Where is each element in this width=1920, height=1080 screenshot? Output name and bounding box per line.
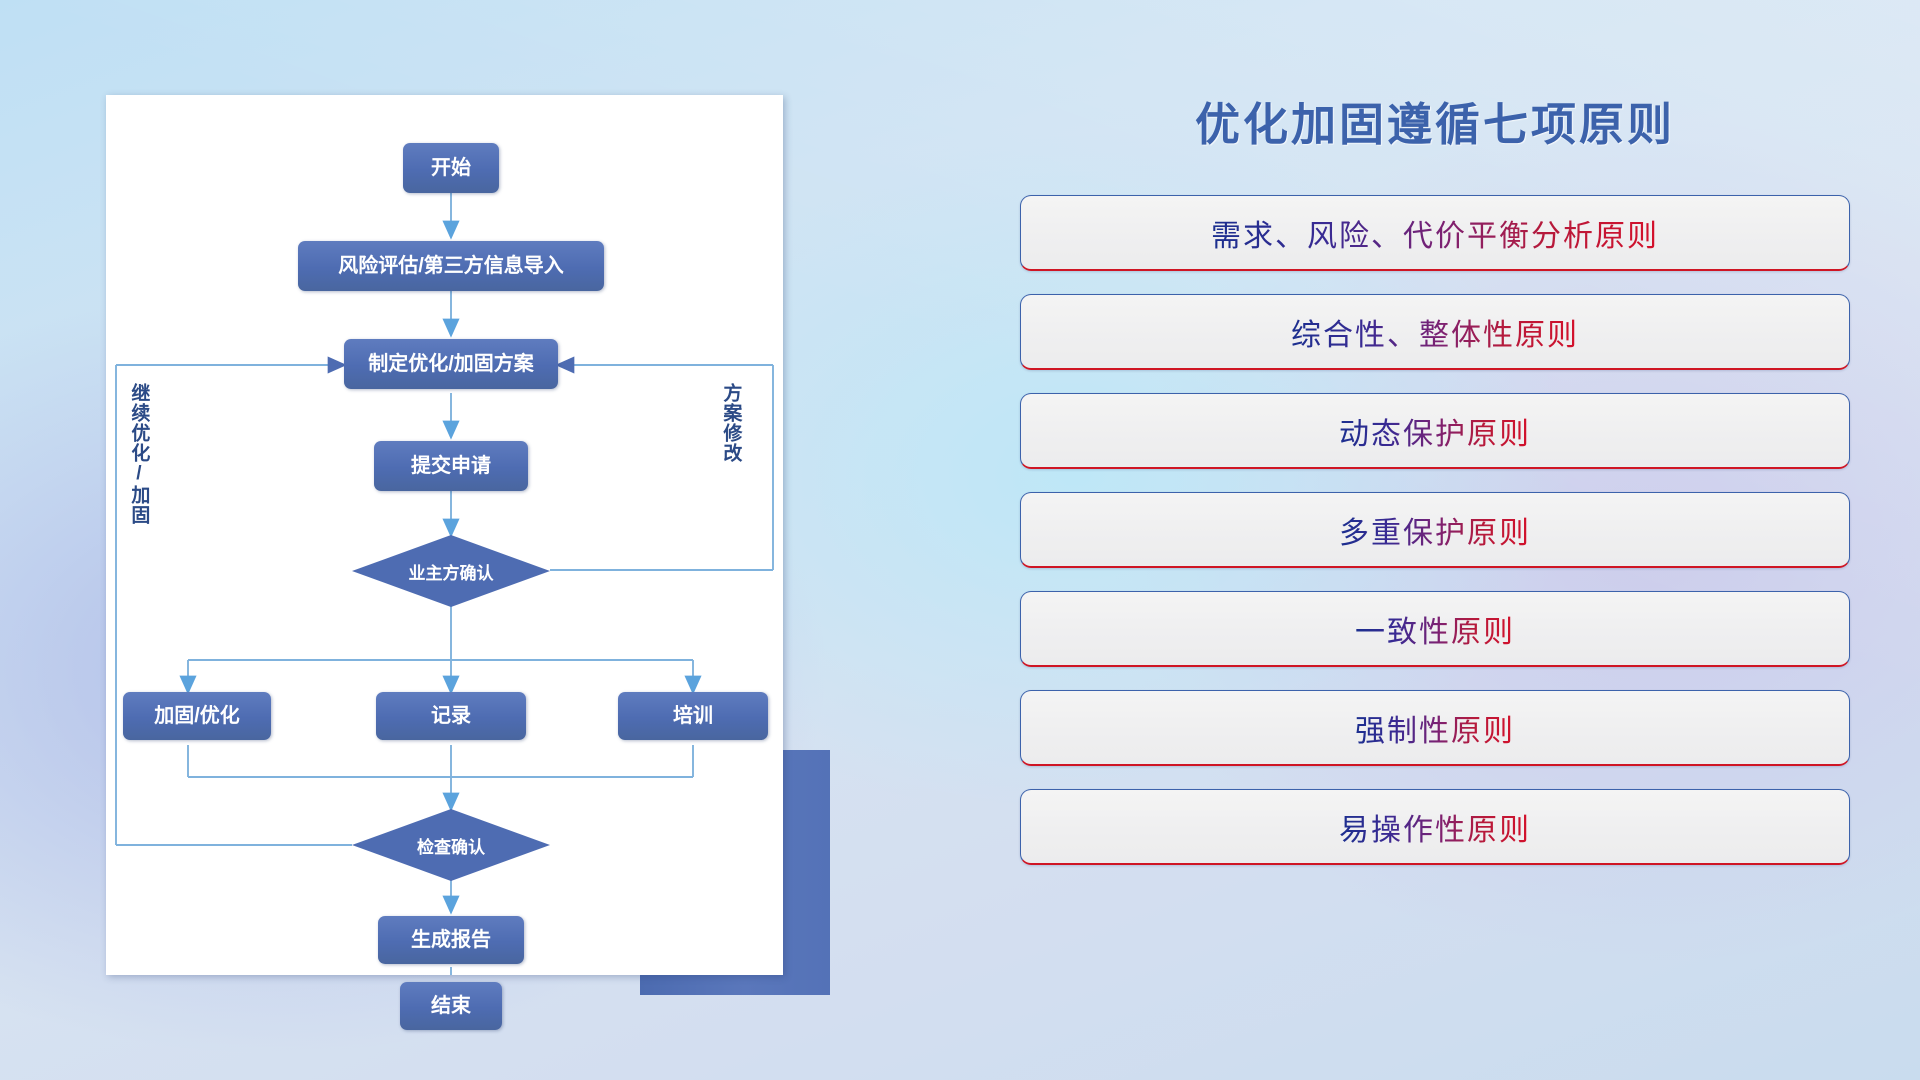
principle-item[interactable]: 一致性原则 — [1020, 591, 1850, 667]
principle-label: 强制性原则 — [1355, 706, 1515, 750]
flow-node-label: 加固/优化 — [154, 705, 240, 727]
flow-node-label: 生成报告 — [411, 929, 491, 951]
flow-node-owner-confirmation[interactable]: 业主方确认 — [352, 535, 550, 607]
flow-node-label: 记录 — [431, 705, 471, 727]
principles-list: 需求、风险、代价平衡分析原则 综合性、整体性原则 动态保护原则 多重保护原则 一… — [1020, 195, 1850, 865]
flow-node-inspection-confirmation[interactable]: 检查确认 — [352, 809, 550, 881]
flow-node-training[interactable]: 培训 — [618, 692, 768, 740]
principle-item[interactable]: 综合性、整体性原则 — [1020, 294, 1850, 370]
flow-node-label: 制定优化/加固方案 — [368, 353, 534, 375]
principles-panel: 优化加固遵循七项原则 需求、风险、代价平衡分析原则 综合性、整体性原则 动态保护… — [1020, 88, 1850, 865]
edge-label-continue-optimize: 继续优化/加固 — [129, 383, 148, 525]
flow-node-label: 检查确认 — [417, 833, 485, 858]
principle-item[interactable]: 强制性原则 — [1020, 690, 1850, 766]
flow-node-submit-application[interactable]: 提交申请 — [374, 441, 528, 491]
flow-node-label: 开始 — [431, 157, 471, 179]
principle-label: 多重保护原则 — [1339, 508, 1531, 552]
edge-label-plan-revision: 方案修改 — [721, 383, 740, 463]
flowchart-card: 开始 风险评估/第三方信息导入 制定优化/加固方案 提交申请 业主方确认 加固/… — [106, 95, 783, 975]
principle-label: 综合性、整体性原则 — [1291, 310, 1579, 354]
principle-label: 一致性原则 — [1355, 607, 1515, 651]
principle-label: 需求、风险、代价平衡分析原则 — [1211, 211, 1659, 255]
flow-node-label: 业主方确认 — [409, 559, 494, 584]
flow-node-label: 提交申请 — [411, 455, 491, 477]
flow-node-reinforce-optimize[interactable]: 加固/优化 — [123, 692, 271, 740]
principle-item[interactable]: 需求、风险、代价平衡分析原则 — [1020, 195, 1850, 271]
principle-label: 动态保护原则 — [1339, 409, 1531, 453]
flow-node-plan[interactable]: 制定优化/加固方案 — [344, 339, 558, 389]
flow-node-label: 风险评估/第三方信息导入 — [338, 255, 564, 277]
panel-title: 优化加固遵循七项原则 — [1020, 88, 1850, 153]
flow-node-end[interactable]: 结束 — [400, 982, 502, 1030]
principle-item[interactable]: 动态保护原则 — [1020, 393, 1850, 469]
principle-label: 易操作性原则 — [1339, 805, 1531, 849]
flow-node-record[interactable]: 记录 — [376, 692, 526, 740]
flow-node-label: 培训 — [673, 705, 713, 727]
flow-node-generate-report[interactable]: 生成报告 — [378, 916, 524, 964]
principle-item[interactable]: 易操作性原则 — [1020, 789, 1850, 865]
flow-node-label: 结束 — [431, 995, 471, 1017]
flow-node-risk-assessment[interactable]: 风险评估/第三方信息导入 — [298, 241, 604, 291]
principle-item[interactable]: 多重保护原则 — [1020, 492, 1850, 568]
flow-node-start[interactable]: 开始 — [403, 143, 499, 193]
slide-canvas: 开始 风险评估/第三方信息导入 制定优化/加固方案 提交申请 业主方确认 加固/… — [0, 0, 1920, 1080]
